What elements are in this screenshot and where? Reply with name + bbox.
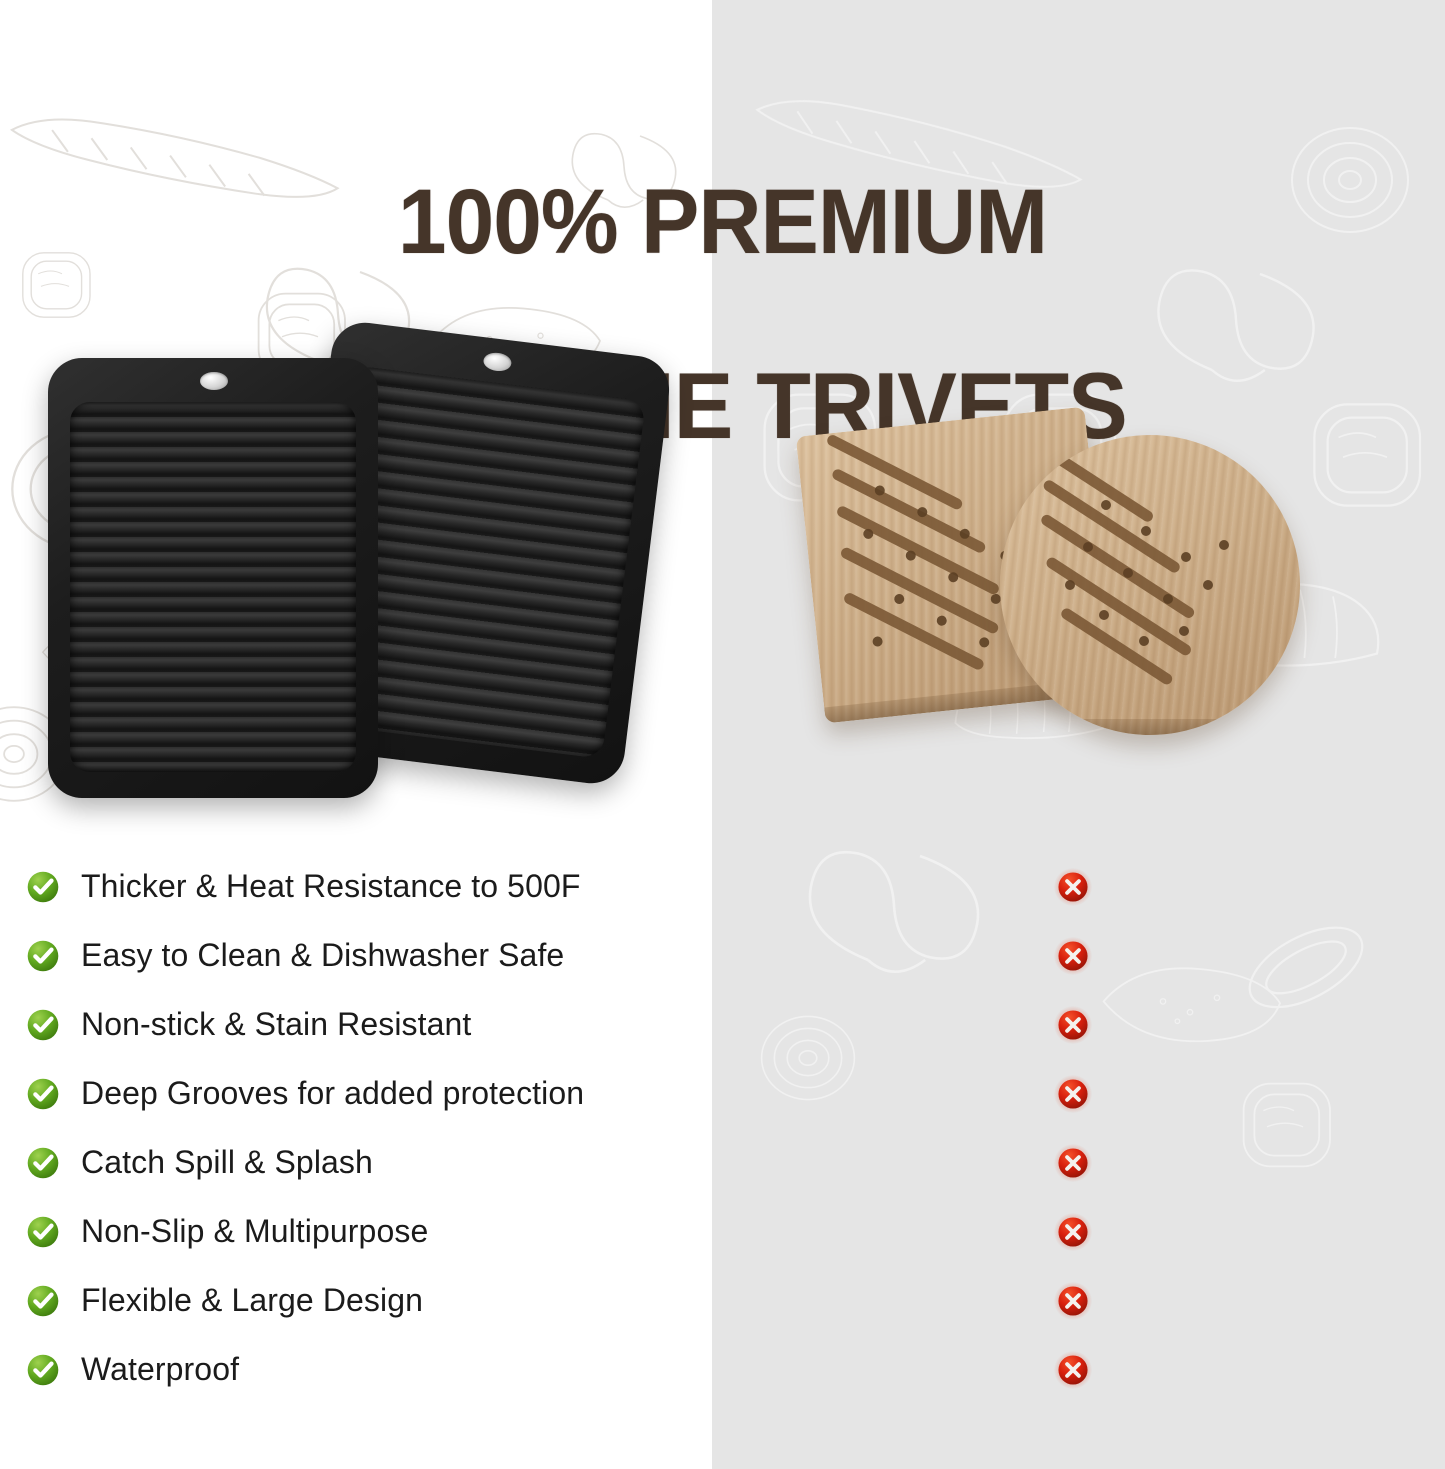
feature-label: Easy to Clean & Dishwasher Safe <box>81 937 564 974</box>
cross-circle-icon <box>1053 1350 1093 1390</box>
cross-row <box>1043 1197 1103 1266</box>
cross-row <box>1043 1335 1103 1404</box>
wood-edge <box>1000 719 1300 735</box>
check-circle-icon <box>26 1353 60 1387</box>
feature-list: Thicker & Heat Resistance to 500F Easy t… <box>26 852 686 1404</box>
cross-circle-icon <box>1053 936 1093 976</box>
feature-row: Deep Grooves for added protection <box>26 1059 686 1128</box>
check-circle-icon <box>26 870 60 904</box>
cross-row <box>1043 852 1103 921</box>
feature-row: Thicker & Heat Resistance to 500F <box>26 852 686 921</box>
check-circle-icon <box>26 1284 60 1318</box>
check-circle-icon <box>26 939 60 973</box>
cross-circle-icon <box>1053 1005 1093 1045</box>
feature-label: Waterproof <box>81 1351 239 1388</box>
feature-row: Catch Spill & Splash <box>26 1128 686 1197</box>
feature-row: Non-stick & Stain Resistant <box>26 990 686 1059</box>
feature-label: Catch Spill & Splash <box>81 1144 373 1181</box>
black-silicone-trivets-image <box>28 330 668 820</box>
check-circle-icon <box>26 1077 60 1111</box>
wood-slots <box>1000 435 1300 735</box>
feature-label: Deep Grooves for added protection <box>81 1075 584 1112</box>
negative-indicator-column <box>1043 852 1103 1404</box>
hanging-hole-icon <box>482 351 512 372</box>
bamboo-wood-trivets-image <box>800 415 1360 755</box>
silicone-trivet-front <box>48 358 378 798</box>
cross-circle-icon <box>1053 1281 1093 1321</box>
feature-label: Flexible & Large Design <box>81 1282 423 1319</box>
feature-row: Waterproof <box>26 1335 686 1404</box>
cross-circle-icon <box>1053 1143 1093 1183</box>
feature-label: Thicker & Heat Resistance to 500F <box>81 868 581 905</box>
check-circle-icon <box>26 1008 60 1042</box>
feature-row: Easy to Clean & Dishwasher Safe <box>26 921 686 990</box>
page-title-line-1: 100% PREMIUM <box>36 177 1409 268</box>
cross-circle-icon <box>1053 867 1093 907</box>
cross-row <box>1043 1128 1103 1197</box>
cross-row <box>1043 1266 1103 1335</box>
feature-row: Non-Slip & Multipurpose <box>26 1197 686 1266</box>
cross-circle-icon <box>1053 1074 1093 1114</box>
silicone-grooves <box>70 402 356 772</box>
check-circle-icon <box>26 1215 60 1249</box>
feature-label: Non-stick & Stain Resistant <box>81 1006 471 1043</box>
feature-row: Flexible & Large Design <box>26 1266 686 1335</box>
wood-trivet-round <box>1000 435 1300 735</box>
feature-label: Non-Slip & Multipurpose <box>81 1213 428 1250</box>
check-circle-icon <box>26 1146 60 1180</box>
infographic-page: 100% PREMIUM SILICONE TRIVETS <box>0 0 1445 1469</box>
cross-row <box>1043 921 1103 990</box>
cross-row <box>1043 990 1103 1059</box>
hanging-hole-icon <box>200 372 228 390</box>
cross-row <box>1043 1059 1103 1128</box>
cross-circle-icon <box>1053 1212 1093 1252</box>
